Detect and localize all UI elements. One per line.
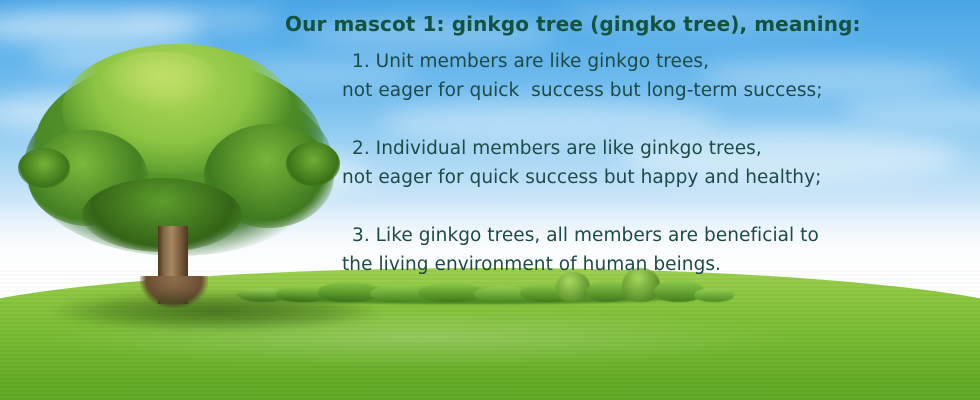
item-1-line-2: not eager for quick success but long-ter… [342, 76, 823, 105]
item-2-line-2: not eager for quick success but happy an… [342, 163, 821, 192]
item-3-line-2: the living environment of human beings. [342, 250, 819, 279]
text-overlay: Our mascot 1: ginkgo tree (gingko tree),… [0, 0, 980, 400]
mascot-banner: Our mascot 1: ginkgo tree (gingko tree),… [0, 0, 980, 400]
item-1-line-1: 1. Unit members are like ginkgo trees, [352, 51, 709, 72]
mascot-item-2: 2. Individual members are like ginkgo tr… [352, 134, 821, 192]
item-2-line-1: 2. Individual members are like ginkgo tr… [352, 138, 762, 159]
mascot-item-3: 3. Like ginkgo trees, all members are be… [352, 221, 819, 279]
mascot-item-1: 1. Unit members are like ginkgo trees,no… [352, 47, 823, 105]
item-3-line-1: 3. Like ginkgo trees, all members are be… [352, 225, 819, 246]
page-title: Our mascot 1: ginkgo tree (gingko tree),… [285, 12, 861, 36]
